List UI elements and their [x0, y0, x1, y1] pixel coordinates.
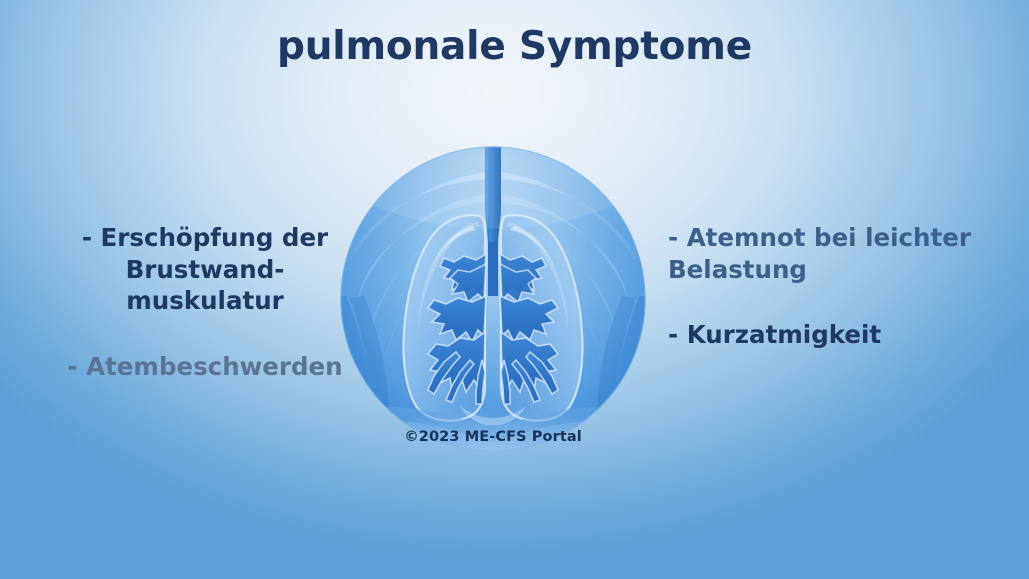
left-symptom-list: - Erschöpfung der Brustwand- muskulatur …	[55, 222, 355, 382]
bullet-line: - Kurzatmigkeit	[668, 319, 1013, 351]
right-symptom-list: - Atemnot bei leichter Belastung - Kurza…	[668, 222, 1013, 351]
bullet-line: - Erschöpfung der	[55, 222, 355, 254]
diaphragm	[340, 376, 646, 452]
bullet-line: Belastung	[668, 254, 1013, 286]
list-item: - Atemnot bei leichter Belastung	[668, 222, 1013, 285]
list-item: - Atembeschwerden	[55, 351, 355, 383]
list-item: - Kurzatmigkeit	[668, 319, 1013, 351]
bullet-line: Brustwand-	[55, 254, 355, 286]
list-item: - Erschöpfung der Brustwand- muskulatur	[55, 222, 355, 317]
slide-canvas: pulmonale Symptome - Erschöpfung der Bru…	[0, 0, 1029, 579]
page-title: pulmonale Symptome	[0, 24, 1029, 69]
lungs-illustration	[340, 146, 646, 452]
bullet-line: muskulatur	[55, 285, 355, 317]
bullet-line: - Atemnot bei leichter	[668, 222, 1013, 254]
bullet-line: - Atembeschwerden	[55, 351, 355, 383]
